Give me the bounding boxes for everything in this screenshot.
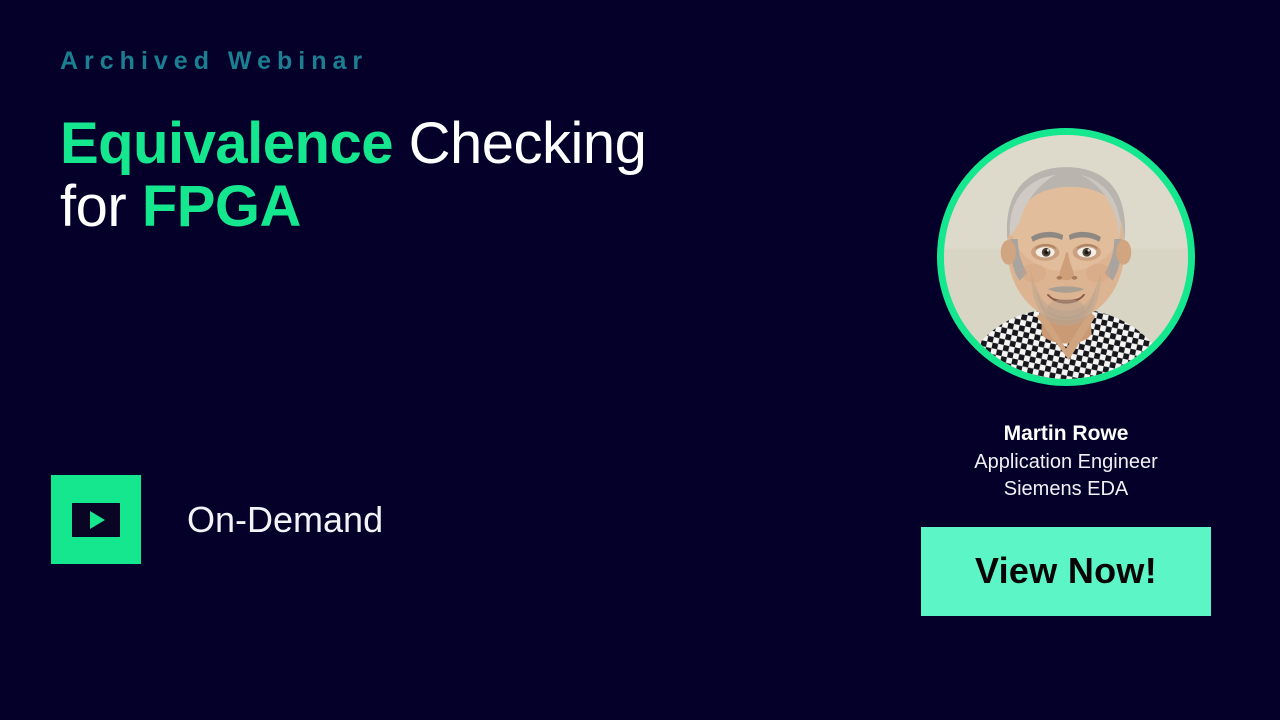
speaker-details: Martin Rowe Application Engineer Siemens… xyxy=(905,420,1227,504)
on-demand-row: On-Demand xyxy=(51,475,383,564)
avatar xyxy=(937,128,1195,386)
left-content-column: Archived Webinar Equivalence Checking fo… xyxy=(60,48,760,238)
right-content-column: Martin Rowe Application Engineer Siemens… xyxy=(905,128,1227,616)
headline-plain-checking: Checking xyxy=(409,111,647,176)
view-now-label: View Now! xyxy=(975,550,1157,592)
play-icon-screen xyxy=(72,503,120,537)
speaker-title: Application Engineer xyxy=(905,449,1227,476)
play-button-icon[interactable] xyxy=(51,475,141,564)
webinar-promo-card: Archived Webinar Equivalence Checking fo… xyxy=(0,0,1280,720)
on-demand-label: On-Demand xyxy=(187,499,383,541)
view-now-button[interactable]: View Now! xyxy=(921,527,1211,616)
play-triangle-glyph xyxy=(90,511,105,529)
page-title: Equivalence Checking for FPGA xyxy=(60,112,760,238)
headline-plain-for: for xyxy=(60,174,126,239)
eyebrow-label: Archived Webinar xyxy=(60,48,760,76)
headline-line-1: Equivalence Checking xyxy=(60,112,760,175)
headline-accent-equivalence: Equivalence xyxy=(60,111,393,176)
speaker-company: Siemens EDA xyxy=(905,476,1227,503)
headline-line-2: for FPGA xyxy=(60,175,760,238)
headline-accent-fpga: FPGA xyxy=(142,174,301,239)
speaker-name: Martin Rowe xyxy=(905,420,1227,449)
